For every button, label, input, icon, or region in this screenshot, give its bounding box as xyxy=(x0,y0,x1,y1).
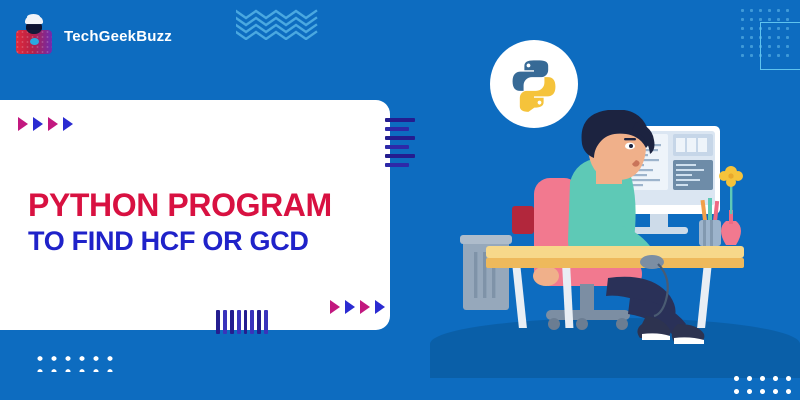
dots-bottom-left-decoration xyxy=(33,352,118,372)
page-title: PYTHON PROGRAM TO FIND HCF OR GCD xyxy=(28,188,332,256)
square-outline-decoration xyxy=(760,22,800,70)
python-logo-badge xyxy=(490,40,578,128)
chevron-decoration-bottom xyxy=(330,300,385,314)
developer-at-desk-illustration xyxy=(430,110,800,375)
pencil-holder-icon xyxy=(699,198,721,246)
title-line-1: PYTHON PROGRAM xyxy=(28,188,332,224)
techgeekbuzz-mascot-icon xyxy=(14,16,54,56)
zigzag-decoration-icon xyxy=(236,6,320,40)
title-line-2: TO FIND HCF OR GCD xyxy=(28,226,332,256)
card-bar-decoration xyxy=(216,310,268,334)
brand-name-label: TechGeekBuzz xyxy=(64,28,172,45)
python-logo-icon xyxy=(506,56,562,112)
banner-canvas: TechGeekBuzz xyxy=(0,0,800,400)
card-stripe-decoration xyxy=(385,118,415,180)
flower-vase-icon xyxy=(719,166,743,245)
chevron-decoration-top xyxy=(18,117,73,131)
dots-bottom-right-decoration xyxy=(730,372,796,400)
brand-logo[interactable]: TechGeekBuzz xyxy=(14,16,172,56)
